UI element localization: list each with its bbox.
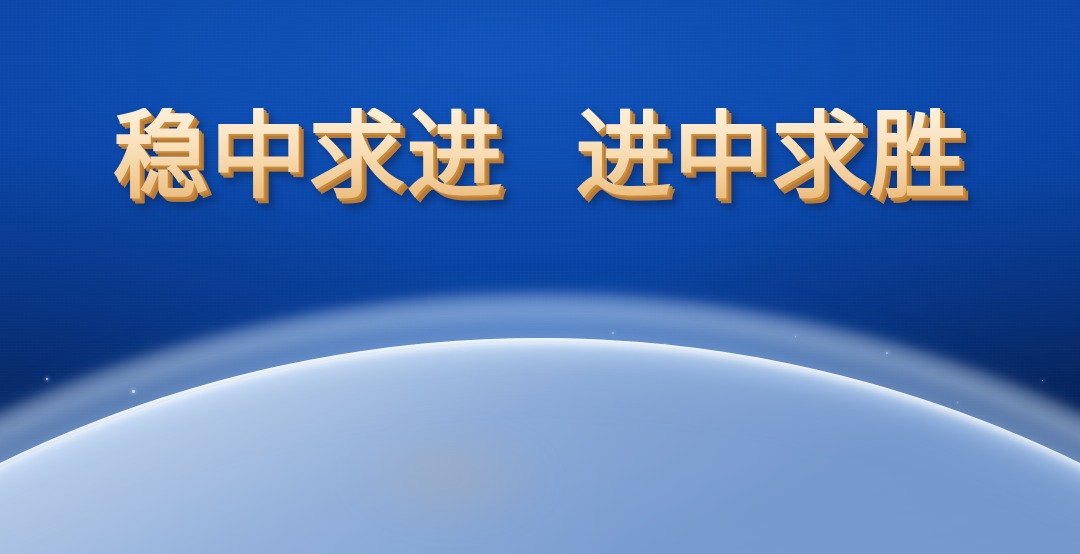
- hero-banner: 稳中求进 进中求胜 坚定信心推动公司高质量发展: [0, 0, 1080, 554]
- lens-flare-icon: [300, 404, 600, 554]
- banner-subheadline: 坚定信心推动公司高质量发展: [0, 226, 1080, 286]
- banner-headline: 稳中求进 进中求胜: [0, 108, 1080, 204]
- headline-block: 稳中求进 进中求胜 坚定信心推动公司高质量发展: [0, 108, 1080, 286]
